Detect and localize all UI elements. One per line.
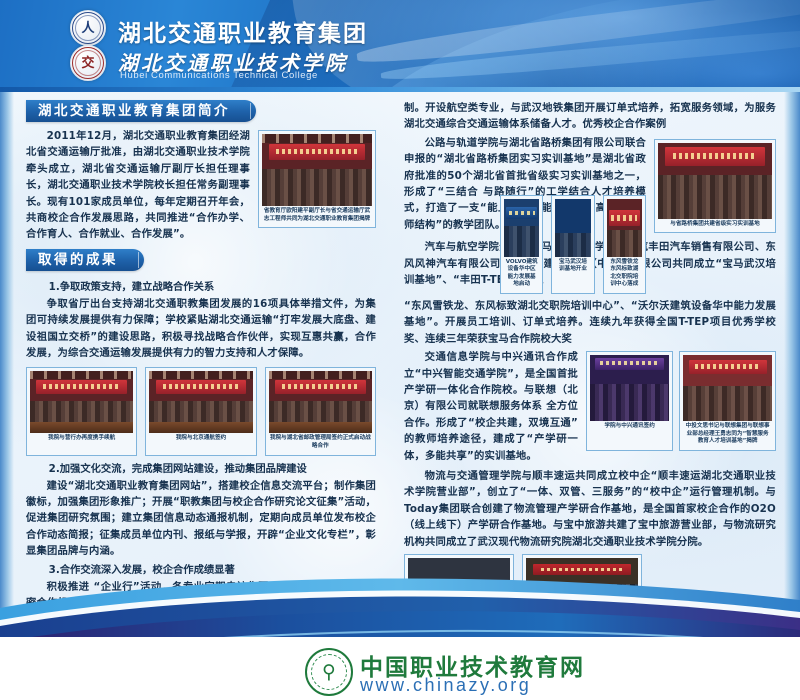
right-column: 制。开设航空类专业，与武汉地铁集团开展订单式培养，拓宽服务领域，为服务湖北交通综… <box>404 100 776 635</box>
photo-caption: 与省路桥集团共建省级实习实训基地 <box>658 219 772 230</box>
photo-card: 学院与中兴通讯签约 <box>586 351 673 451</box>
section-heading-achievements: 取得的成果 <box>26 249 144 271</box>
college-title-en: Hubei Communications Technical College <box>120 70 318 81</box>
achievement-2-body: 建设“湖北交通职业教育集团网站”，搭建校企信息交流平台；制作集团徽标，加强集团形… <box>26 478 376 560</box>
photo-image <box>269 371 372 433</box>
photo-row-zte-lenovo: 学院与中兴通讯签约 中投文思书记与联想集团与联想事业部总经理王勇志同为“智慧服务… <box>586 351 776 451</box>
footer-site-url[interactable]: www.chinazy.org <box>360 675 531 696</box>
photo-caption: 我院与北京通航签约 <box>149 433 252 444</box>
photo-caption: 我院与湖北省邮政管理局签约正式启动战略合作 <box>269 433 372 451</box>
photo-row-partnerships: 我院与营行办再度携手续航 我院与北京通航签约 我院与湖北省邮政管理局签约正式启动… <box>26 367 376 455</box>
photo-image <box>590 355 669 421</box>
photo-image <box>607 199 642 257</box>
right-paragraph-1: 制。开设航空类专业，与武汉地铁集团开展订单式培养，拓宽服务领域，为服务湖北交通综… <box>404 100 776 133</box>
right-edge-accent <box>784 92 800 637</box>
photo-image <box>504 199 539 257</box>
photo-image <box>30 371 133 433</box>
photo-card: 东风雪铁龙 东风标致湖北交职院培训中心落成 <box>603 195 646 294</box>
photo-image <box>149 371 252 433</box>
photo-image <box>262 134 372 206</box>
photo-image <box>658 143 772 219</box>
chinazy-tree-emblem-icon: ⚲ <box>305 648 353 696</box>
right-paragraph-4: “东风雪铁龙、东风标致湖北交职院培训中心”、“沃尔沃建筑设备华中能力发展基地”。… <box>404 298 776 347</box>
group-emblem-icon: 人 <box>70 10 106 46</box>
left-column: 湖北交通职业教育集团简介 省教育厅欧阳建平副厅长与省交通运输厅武志工程师共同为湖… <box>26 100 376 614</box>
photo-caption: 宝马武汉培训基地开业 <box>555 257 590 275</box>
photo-caption: 我院与营行办再度携手续航 <box>30 433 133 444</box>
achievement-1-body: 争取省厅出台支持湖北交通职教集团发展的16项具体举措文件，为集团可持续发展提供有… <box>26 296 376 362</box>
college-emblem-icon: 交 <box>70 45 106 81</box>
left-edge-accent <box>0 92 14 637</box>
photo-card: 我院与湖北省邮政管理局签约正式启动战略合作 <box>265 367 376 455</box>
photo-card-group-unveiling: 省教育厅欧阳建平副厅长与省交通运输厅武志工程师共同为湖北交通职业教育集团揭牌 <box>258 130 376 228</box>
photo-card: 我院与营行办再度携手续航 <box>26 367 137 455</box>
photo-caption: 中投文思书记与联想集团与联想事业部总经理王勇志同为“智慧服务教育人才培训基地”揭… <box>683 421 772 447</box>
section-heading-intro: 湖北交通职业教育集团简介 <box>26 100 256 122</box>
photo-image <box>683 355 772 421</box>
photo-caption: 省教育厅欧阳建平副厅长与省交通运输厅武志工程师共同为湖北交通职业教育集团揭牌 <box>262 206 372 224</box>
poster-page: 人 交 湖北交通职业教育集团 湖北交通职业技术学院 Hubei Communic… <box>0 0 800 700</box>
photo-card: 宝马武汉培训基地开业 <box>551 195 594 294</box>
achievement-2-heading: 2.加强文化交流，完成集团网站建设，推动集团品牌建设 <box>26 461 376 477</box>
group-title: 湖北交通职业教育集团 <box>118 14 368 48</box>
photo-caption: 东风雪铁龙 东风标致湖北交职院培训中心落成 <box>607 257 642 290</box>
photo-caption: 学院与中兴通讯签约 <box>590 421 669 432</box>
photo-card-luqiao-base: 与省路桥集团共建省级实习实训基地 <box>654 139 776 234</box>
right-paragraph-6: 物流与交通管理学院与顺丰速运共同成立校中企“顺丰速运湖北交通职业技术学院营业部”… <box>404 468 776 550</box>
photo-card: 中投文思书记与联想集团与联想事业部总经理王勇志同为“智慧服务教育人才培训基地”揭… <box>679 351 776 451</box>
page-header: 人 交 湖北交通职业教育集团 湖北交通职业技术学院 Hubei Communic… <box>0 0 800 87</box>
photo-card: VOLVO建筑设备华中区能力发展基地启动 <box>500 195 543 294</box>
photo-card: 我院与北京通航签约 <box>145 367 256 455</box>
achievement-1-heading: 1.争取政策支持，建立战略合作关系 <box>26 279 376 295</box>
photo-image <box>555 199 590 257</box>
photo-caption: VOLVO建筑设备华中区能力发展基地启动 <box>504 257 539 290</box>
photo-row-auto-partners: VOLVO建筑设备华中区能力发展基地启动 宝马武汉培训基地开业 东风雪铁龙 东风… <box>500 195 646 294</box>
